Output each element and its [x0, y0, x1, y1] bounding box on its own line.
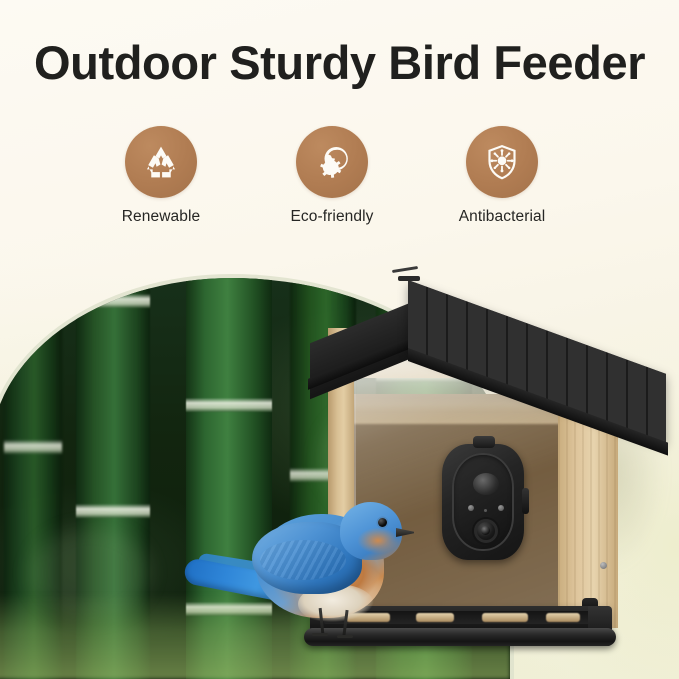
- shield-germ-icon: [482, 142, 522, 182]
- bird-wing-feathers: [260, 540, 346, 580]
- camera-bezel: [452, 453, 514, 551]
- recycle-icon: [141, 142, 181, 182]
- roof-antenna: [392, 266, 418, 273]
- product-marketing-image: Outdoor Sturdy Bird Feeder: [0, 0, 679, 679]
- bird-eye: [378, 518, 387, 527]
- feature-label: Antibacterial: [407, 208, 597, 226]
- bird-leg: [319, 608, 325, 634]
- bird-foot: [337, 635, 353, 638]
- roof-ridge: [398, 276, 420, 281]
- motion-sensor-icon: [473, 473, 499, 495]
- tray-seed: [482, 613, 528, 622]
- feature-label: Renewable: [66, 208, 256, 226]
- tray-seed: [416, 613, 454, 622]
- bird-legs: [310, 608, 366, 648]
- globe-leaf-icon: [312, 142, 352, 182]
- feature-badge-eco-friendly: Eco-friendly: [237, 126, 427, 226]
- led-indicator-icon: [468, 505, 474, 511]
- bluebird: [190, 480, 420, 650]
- camera-top-tab: [473, 436, 495, 448]
- bird-leg: [342, 610, 348, 636]
- feature-badges: Renewable Eco-friendly: [0, 126, 679, 236]
- badge-circle: [296, 126, 368, 198]
- microphone-icon: [484, 509, 487, 512]
- page-title: Outdoor Sturdy Bird Feeder: [34, 38, 654, 88]
- product-photo: [0, 262, 679, 679]
- feature-badge-antibacterial: Antibacterial: [407, 126, 597, 226]
- bird-beak: [396, 528, 414, 537]
- bird-feeder: [300, 262, 679, 679]
- camera-side-button: [522, 488, 529, 514]
- feature-badge-renewable: Renewable: [66, 126, 256, 226]
- camera-module: [442, 444, 524, 560]
- feeder-roof: [300, 262, 679, 402]
- led-indicator-icon: [498, 505, 504, 511]
- badge-circle: [466, 126, 538, 198]
- tray-seed: [546, 613, 580, 622]
- badge-circle: [125, 126, 197, 198]
- screw-icon: [600, 562, 607, 569]
- bird-foot: [312, 633, 328, 636]
- feature-label: Eco-friendly: [237, 208, 427, 226]
- camera-lens-icon: [474, 519, 498, 543]
- bird-cheek: [356, 528, 400, 556]
